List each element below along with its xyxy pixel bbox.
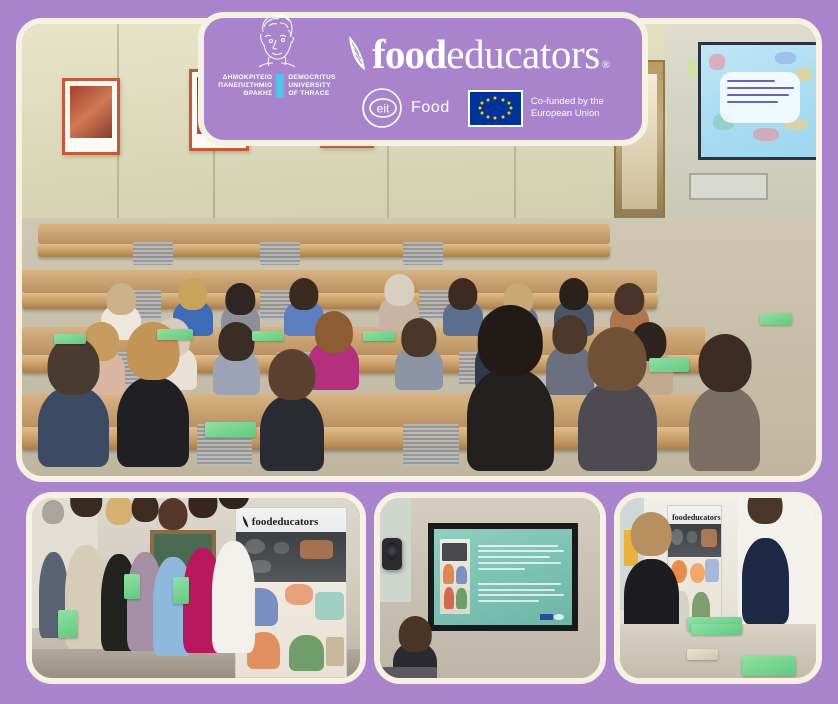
audience-member [443, 300, 483, 336]
eu-funding-text: Co-funded by the European Union [531, 96, 604, 120]
eu-star-icon [502, 115, 505, 118]
banner-title-bold: food [252, 516, 273, 528]
green-folder [687, 649, 718, 660]
registration-desk-photo: foodeducators [614, 492, 822, 684]
slide-illustration-panel [440, 539, 470, 614]
projection-screen [428, 523, 578, 631]
eu-star-icon [494, 97, 497, 100]
green-folder [252, 331, 284, 341]
logo-header-card: ΔΗΜΟΚΡΙΤΕΙΟ ΠΑΝΕΠΙΣΤΗΜΙΟ ΘΡΑΚΗΣ DEMOCRIT… [198, 12, 648, 146]
eu-flag-icon [468, 90, 523, 127]
eu-text-line-2: European Union [531, 108, 604, 120]
audience-member [213, 349, 261, 394]
banner-title: foodeducators [670, 510, 719, 524]
green-folder-stack [691, 624, 742, 635]
green-folder [157, 329, 193, 340]
presenter-desk [380, 667, 437, 678]
eu-text-line-1: Co-funded by the [531, 96, 604, 108]
eit-food-label: Food [411, 99, 450, 117]
eit-food-logo: eit Food [360, 86, 450, 130]
audience-member [308, 340, 360, 390]
audience-member [395, 345, 443, 390]
group-member [212, 541, 255, 653]
banner-title-light: educators [687, 513, 720, 522]
audience-member [38, 386, 109, 467]
eu-star-icon [486, 98, 489, 101]
foodeducators-wordmark: food educators ® [346, 30, 610, 78]
audience-member [260, 395, 324, 472]
projection-screen [698, 42, 816, 160]
green-folder [363, 331, 395, 341]
duth-english-line-1: DEMOCRITUS [288, 74, 335, 82]
green-folder [124, 574, 140, 599]
wordmark-bold-part: food [372, 30, 446, 78]
svg-text:eit: eit [377, 102, 390, 116]
audience-member [578, 381, 657, 471]
framed-picture [62, 78, 121, 155]
eu-star-icon [494, 117, 497, 120]
eu-star-icon [481, 112, 484, 115]
green-folder [205, 422, 257, 437]
eu-star-icon [486, 115, 489, 118]
eu-star-icon [502, 98, 505, 101]
eu-star-icon [507, 112, 510, 115]
banner-title: foodeducators [241, 513, 342, 532]
whiteboard [689, 173, 768, 200]
presentation-slide-photo: Projection screen showing a teal FoodEdu… [374, 492, 606, 684]
banner-title-light: educators [273, 516, 319, 528]
slide-text-bubble [720, 72, 800, 123]
registered-trademark-symbol: ® [602, 59, 610, 71]
eu-star-icon [481, 102, 484, 105]
eu-star-icon [509, 107, 512, 110]
green-folder [742, 656, 797, 676]
green-folder [54, 334, 86, 345]
wordmark-light-part: educators [446, 30, 600, 78]
photo-collage: Tiered university lecture hall filled wi… [0, 0, 838, 704]
eu-star-icon [507, 102, 510, 105]
audience-member [467, 368, 554, 472]
eu-star-icon [479, 107, 482, 110]
eit-circle-icon: eit [360, 86, 404, 130]
eu-funding-logo: Co-funded by the European Union [468, 90, 604, 127]
banner-title-bold: food [672, 513, 687, 522]
staff-member [742, 538, 789, 624]
duth-greek-line-1: ΔΗΜΟΚΡΙΤΕΙΟ [218, 74, 272, 82]
democritus-bust-icon [247, 10, 307, 72]
group-portrait-photo: foodeducators [26, 492, 366, 684]
green-folder [173, 577, 189, 604]
green-folder [649, 358, 689, 372]
audience-member [546, 345, 594, 395]
audience-member [689, 386, 760, 472]
audience-member [117, 377, 188, 467]
green-folder [760, 313, 792, 325]
pea-pod-icon [346, 34, 368, 74]
wall-speaker-icon [382, 538, 402, 570]
green-folder [58, 610, 78, 639]
